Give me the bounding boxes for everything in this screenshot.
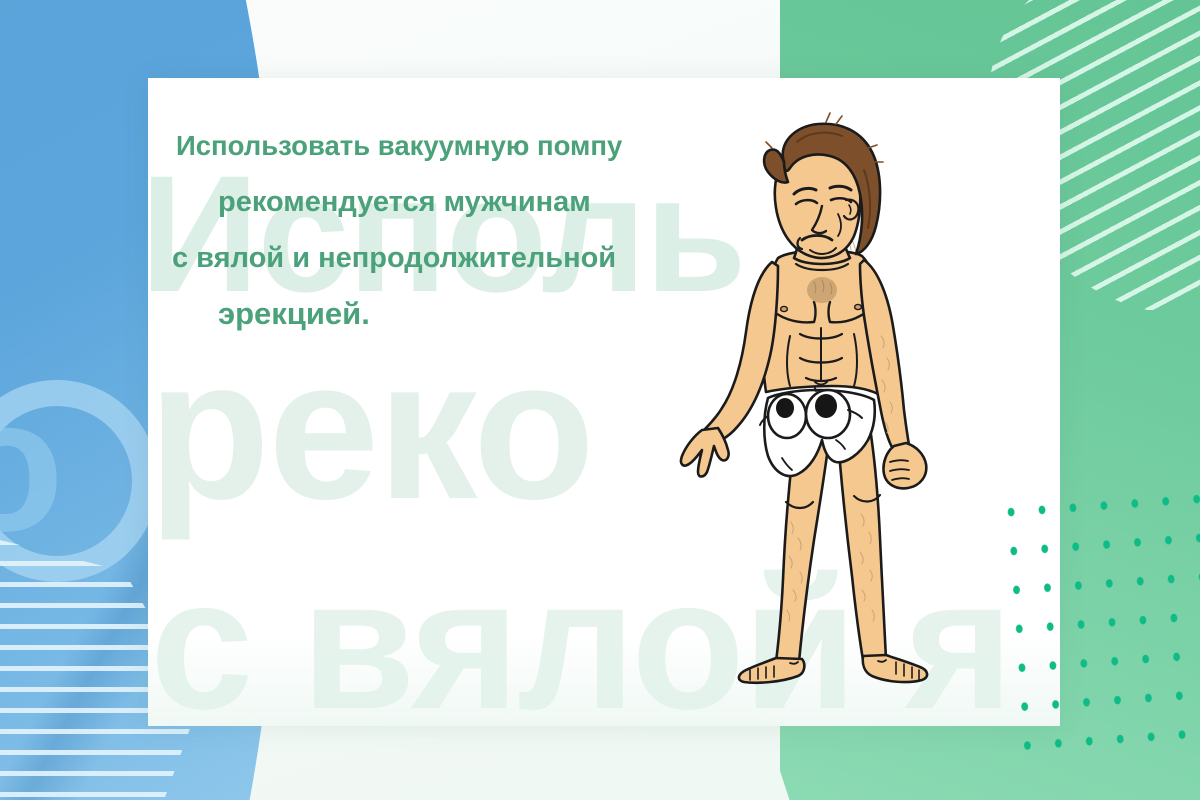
dot-grid-pattern xyxy=(990,475,1200,769)
sad-man-svg xyxy=(650,110,980,690)
sad-man-illustration xyxy=(650,110,980,690)
slide-canvas: Исполь реко с вялой я о Использовать вак… xyxy=(0,0,1200,800)
